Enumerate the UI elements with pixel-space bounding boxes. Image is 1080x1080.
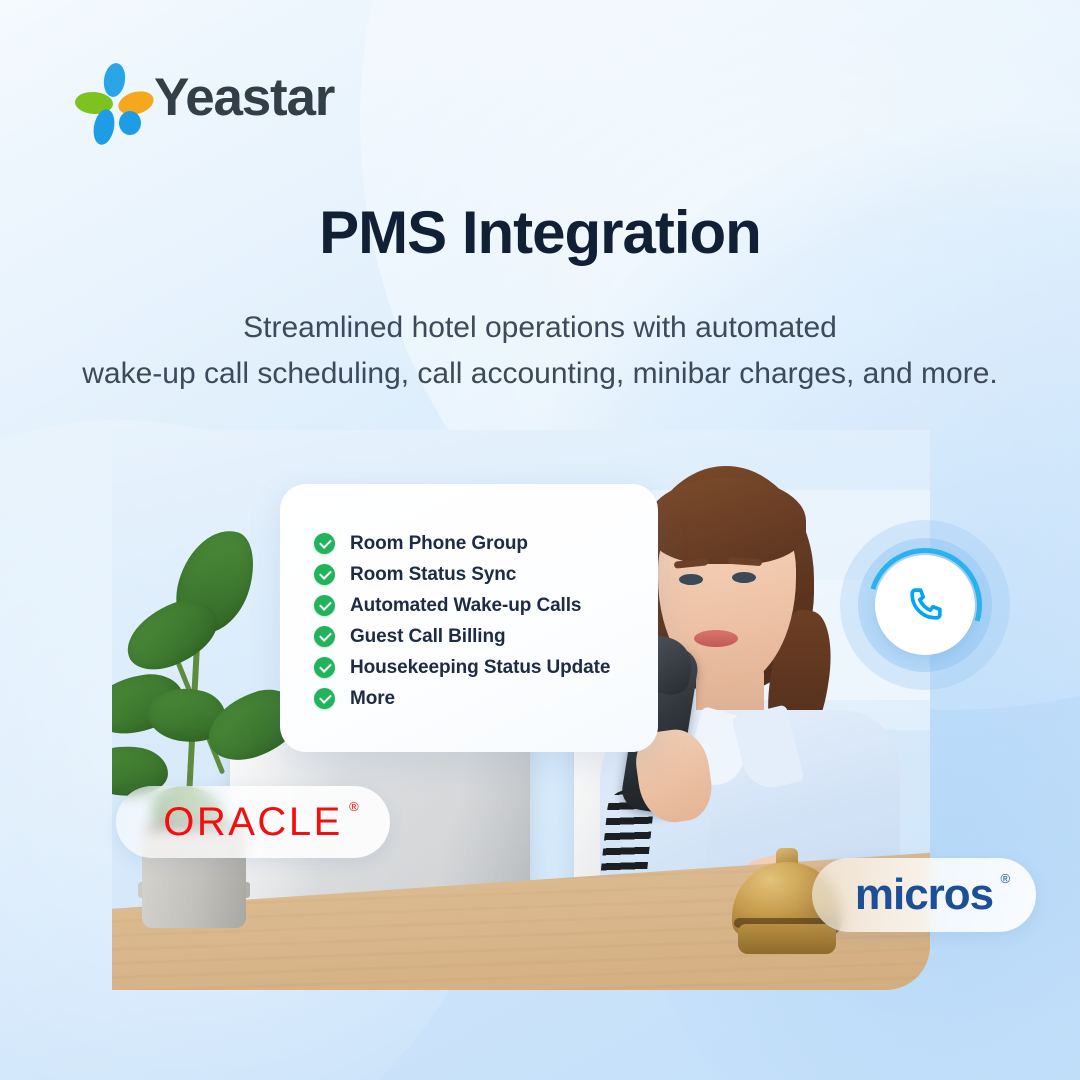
check-circle-icon (314, 688, 335, 709)
subtitle-line-2: wake-up call scheduling, call accounting… (0, 351, 1080, 397)
lips (694, 630, 738, 647)
phone-handset-icon (904, 584, 946, 626)
phone-icon-circle[interactable] (875, 555, 975, 655)
feature-label: Room Phone Group (350, 533, 528, 555)
check-circle-icon (314, 533, 335, 554)
list-item[interactable]: Housekeeping Status Update (314, 652, 610, 683)
registered-trademark-icon: ® (349, 800, 359, 813)
list-item[interactable]: Guest Call Billing (314, 621, 610, 652)
feature-label: Guest Call Billing (350, 626, 506, 648)
logo-petal-top (102, 62, 128, 99)
list-item[interactable]: Room Phone Group (314, 528, 610, 559)
micros-wordmark: micros® (855, 873, 993, 917)
feature-label: More (350, 688, 395, 710)
check-circle-icon (314, 657, 335, 678)
list-item[interactable]: Room Status Sync (314, 559, 610, 590)
list-item[interactable]: More (314, 683, 610, 714)
feature-label: Automated Wake-up Calls (350, 595, 581, 617)
eye (732, 572, 756, 583)
subtitle-line-1: Streamlined hotel operations with automa… (0, 305, 1080, 351)
yeastar-logo[interactable]: Yeastar (78, 64, 334, 130)
eye (679, 574, 703, 585)
check-circle-icon (314, 564, 335, 585)
potted-plant (112, 528, 304, 928)
oracle-wordmark: ORACLE® (163, 802, 343, 842)
page-title: PMS Integration (0, 198, 1080, 267)
feature-list-card: Room Phone Group Room Status Sync Automa… (280, 484, 658, 752)
list-item[interactable]: Automated Wake-up Calls (314, 590, 610, 621)
poster-canvas: Yeastar PMS Integration Streamlined hote… (0, 0, 1080, 1080)
logo-petal-bottom-right (119, 111, 141, 135)
logo-wordmark: Yeastar (154, 71, 334, 124)
hair-front (648, 478, 806, 564)
feature-list: Room Phone Group Room Status Sync Automa… (314, 528, 610, 714)
registered-trademark-icon: ® (1001, 872, 1011, 885)
partner-badge-micros[interactable]: micros® (812, 858, 1036, 932)
yeastar-flower-logo-icon (78, 64, 140, 130)
page-subtitle: Streamlined hotel operations with automa… (0, 305, 1080, 396)
partner-badge-oracle[interactable]: ORACLE® (116, 786, 390, 858)
check-circle-icon (314, 626, 335, 647)
bell-base (738, 924, 836, 954)
feature-label: Housekeeping Status Update (350, 657, 610, 679)
phone-badge (832, 512, 1018, 698)
feature-label: Room Status Sync (350, 564, 516, 586)
check-circle-icon (314, 595, 335, 616)
